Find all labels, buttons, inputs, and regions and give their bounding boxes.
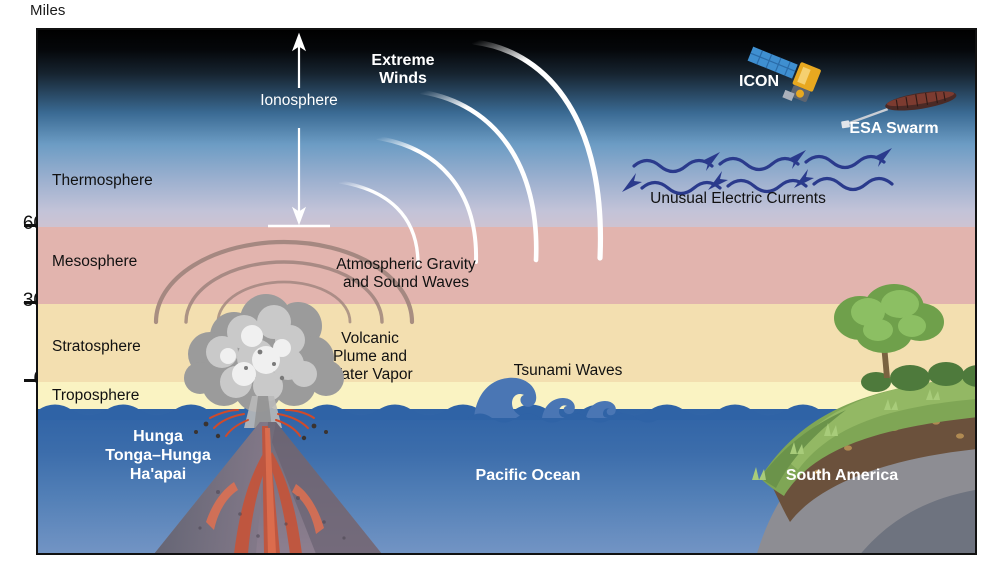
south-america-landmass [698, 282, 977, 555]
south-america-label: South America [752, 467, 932, 486]
gravity-waves-line-1: Atmospheric Gravity [306, 256, 506, 274]
diagram-frame: Ionosphere [36, 28, 977, 555]
layer-label-stratosphere: Stratosphere [52, 338, 141, 356]
esa-swarm-label: ESA Swarm [814, 120, 974, 138]
axis-title: Miles [30, 2, 66, 19]
volcano-name-line-3: Ha'apai [68, 466, 248, 485]
gravity-waves-line-2: and Sound Waves [306, 274, 506, 292]
ash-plume [184, 294, 344, 412]
gravity-waves-label: Atmospheric Gravity and Sound Waves [306, 256, 506, 292]
icon-satellite-label: ICON [714, 73, 804, 91]
tree [834, 284, 944, 378]
ionosphere-label: Ionosphere [244, 92, 354, 110]
layer-label-thermosphere: Thermosphere [52, 172, 153, 190]
layer-label-mesosphere: Mesosphere [52, 253, 137, 271]
scene: Ionosphere [38, 30, 975, 553]
volcano-name-label: Hunga Tonga–Hunga Ha'apai [68, 428, 248, 485]
extreme-winds-line-1: Extreme [338, 52, 468, 70]
volcano-name-line-1: Hunga [68, 428, 248, 447]
electric-currents-label: Unusual Electric Currents [598, 190, 878, 208]
volcano-name-line-2: Tonga–Hunga [68, 447, 248, 466]
tsunami-wave-shape [468, 370, 658, 418]
diagram-root: Miles 60 30 6 [0, 0, 985, 565]
volcano-illustration [148, 292, 448, 554]
extreme-winds-line-2: Winds [338, 70, 468, 88]
extreme-winds-label: Extreme Winds [338, 52, 468, 88]
pacific-ocean-label: Pacific Ocean [438, 467, 618, 486]
